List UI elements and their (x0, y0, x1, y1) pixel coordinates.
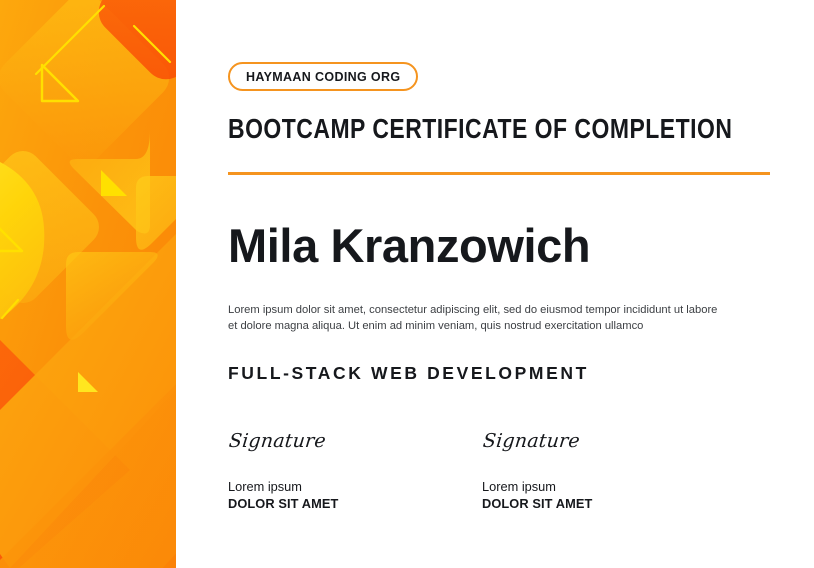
signatory-role-left: DOLOR SIT AMET (228, 495, 338, 512)
signatory-name-right: Lorem ipsum (482, 478, 592, 495)
certificate-content: HAYMAAN CODING ORG BOOTCAMP CERTIFICATE … (228, 0, 814, 568)
signatory-name-left: Lorem ipsum (228, 478, 338, 495)
title-divider (228, 172, 770, 175)
recipient-name: Mila Kranzowich (228, 218, 590, 273)
certificate-title: BOOTCAMP CERTIFICATE OF COMPLETION (228, 113, 732, 145)
signature-block-left: Signature Lorem ipsum DOLOR SIT AMET (228, 432, 338, 512)
certificate-page: HAYMAAN CODING ORG BOOTCAMP CERTIFICATE … (0, 0, 814, 568)
program-name: FULL-STACK WEB DEVELOPMENT (228, 363, 589, 384)
decorative-artwork-panel (0, 0, 176, 568)
signature-script-left: Signature (228, 432, 340, 451)
signatory-role-right: DOLOR SIT AMET (482, 495, 592, 512)
signature-script-right: Signature (482, 432, 594, 451)
organization-badge: HAYMAAN CODING ORG (228, 62, 418, 91)
certificate-body-text: Lorem ipsum dolor sit amet, consectetur … (228, 302, 726, 334)
signature-block-right: Signature Lorem ipsum DOLOR SIT AMET (482, 432, 592, 512)
